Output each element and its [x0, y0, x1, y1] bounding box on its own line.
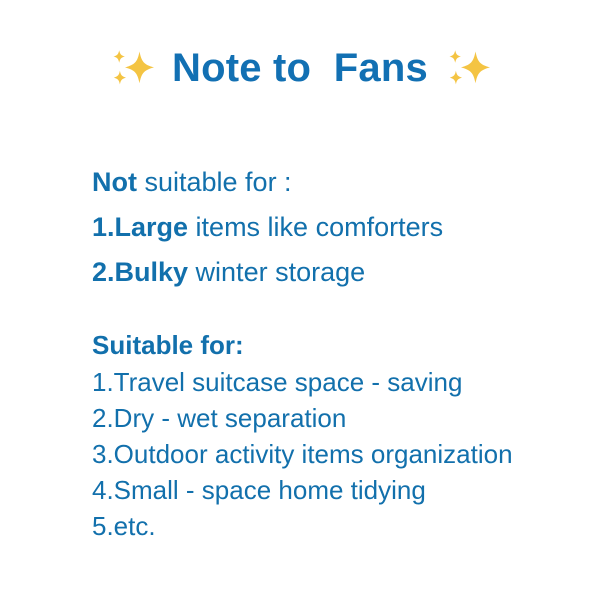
list-item: 1.Large items like comforters — [92, 205, 562, 250]
not-suitable-item-2-rest: winter storage — [188, 257, 365, 287]
not-suitable-item-2-bold: 2.Bulky — [92, 257, 188, 287]
not-suitable-item-1-bold: 1.Large — [92, 212, 188, 242]
list-item: 3.Outdoor activity items organization — [92, 436, 562, 472]
not-suitable-heading-bold: Not — [92, 167, 137, 197]
not-suitable-item-1-rest: items like comforters — [188, 212, 443, 242]
sparkles-icon-left — [106, 42, 158, 94]
list-item: 4.Small - space home tidying — [92, 472, 562, 508]
suitable-heading: Suitable for: — [92, 326, 562, 364]
sparkles-icon-right — [442, 42, 494, 94]
list-item: 2.Bulky winter storage — [92, 250, 562, 295]
page-title: Note to Fans — [0, 42, 600, 94]
suitable-section: Suitable for: 1.Travel suitcase space - … — [92, 326, 562, 544]
list-item: 1.Travel suitcase space - saving — [92, 364, 562, 400]
note-to-fans-card: Note to Fans Not suitable for : 1.Large … — [0, 0, 600, 600]
not-suitable-heading: Not suitable for : — [92, 160, 562, 205]
not-suitable-section: Not suitable for : 1.Large items like co… — [92, 160, 562, 295]
not-suitable-heading-rest: suitable for : — [137, 167, 292, 197]
list-item: 5.etc. — [92, 508, 562, 544]
title-label: Note to Fans — [172, 48, 428, 88]
list-item: 2.Dry - wet separation — [92, 400, 562, 436]
